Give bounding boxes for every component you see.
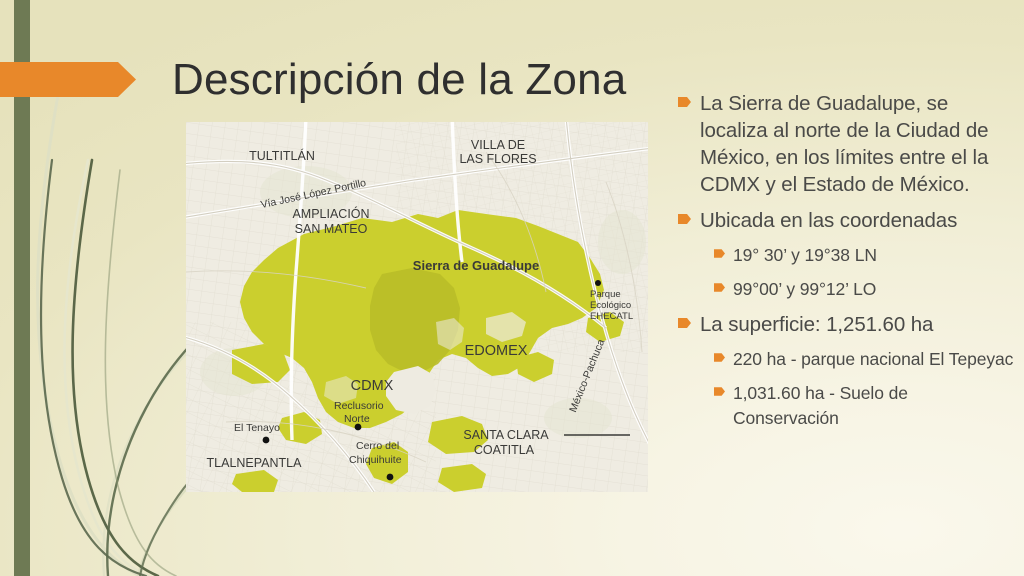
map-area-label: TULTITLÁN: [249, 148, 315, 163]
map-area-label: TLALNEPANTLA: [207, 456, 303, 470]
map-point-label: Ecológico: [590, 300, 631, 311]
bullet-text: 99°00’ y 99°12’ LO: [733, 277, 876, 302]
bullet-list: La Sierra de Guadalupe, se localiza al n…: [678, 90, 1014, 440]
map-area-label: CDMX: [351, 378, 394, 394]
bullet-text: 19° 30’ y 19°38 LN: [733, 243, 877, 268]
map-area-label: COATITLA: [474, 443, 535, 457]
bullet-text: Ubicada en las coordenadas: [700, 207, 957, 234]
bullet-item-sub: 99°00’ y 99°12’ LO: [714, 277, 1014, 302]
bullet-item: La Sierra de Guadalupe, se localiza al n…: [678, 90, 1014, 198]
bullet-text: 220 ha - parque nacional El Tepeyac: [733, 347, 1013, 372]
map-point-label: EHECATL: [590, 311, 633, 322]
pennant-bullet-icon: [714, 283, 725, 292]
pennant-bullet-icon: [714, 353, 725, 362]
slide-canvas: Descripción de la Zona: [0, 0, 1024, 576]
map-point-label: Chiquihuite: [349, 454, 402, 466]
map-area-label: SAN MATEO: [295, 222, 368, 236]
pennant-bullet-icon: [678, 97, 691, 107]
pennant-bullet-icon: [678, 214, 691, 224]
map-point-marker: [595, 280, 601, 286]
bullet-item-sub: 19° 30’ y 19°38 LN: [714, 243, 1014, 268]
bullet-text: 1,031.60 ha - Suelo de Conservación: [733, 381, 1014, 431]
map-area-label: EDOMEX: [465, 343, 528, 359]
map-point-label: Parque: [590, 289, 621, 300]
map-svg: TULTITLÁN VILLA DE LAS FLORES AMPLIACIÓN…: [186, 122, 648, 492]
map-point-marker: [263, 437, 270, 444]
map-point-marker: [387, 474, 394, 481]
pennant-bullet-icon: [714, 249, 725, 258]
bullet-item: La superficie: 1,251.60 ha: [678, 311, 1014, 338]
bullet-text: La superficie: 1,251.60 ha: [700, 311, 933, 338]
pennant-bullet-icon: [714, 387, 725, 396]
map-point-label: Cerro del: [356, 440, 399, 452]
map-area-label: SANTA CLARA: [463, 428, 549, 442]
map-area-label-sierra: Sierra de Guadalupe: [413, 258, 539, 273]
map-area-label: LAS FLORES: [459, 152, 536, 166]
orange-pennant-accent: [0, 62, 136, 97]
map-area-label: VILLA DE: [471, 138, 525, 152]
map-area-label: AMPLIACIÓN: [292, 206, 369, 221]
bullet-item-sub: 220 ha - parque nacional El Tepeyac: [714, 347, 1014, 372]
map-point-label: Reclusorio: [334, 400, 384, 412]
map-point-label: Norte: [344, 413, 370, 425]
bullet-item-sub: 1,031.60 ha - Suelo de Conservación: [714, 381, 1014, 431]
map-point-label: El Tenayo: [234, 422, 280, 434]
map-image: TULTITLÁN VILLA DE LAS FLORES AMPLIACIÓN…: [186, 122, 648, 492]
bullet-item: Ubicada en las coordenadas: [678, 207, 1014, 234]
bullet-text: La Sierra de Guadalupe, se localiza al n…: [700, 90, 1014, 198]
page-title: Descripción de la Zona: [172, 57, 626, 103]
pennant-bullet-icon: [678, 318, 691, 328]
